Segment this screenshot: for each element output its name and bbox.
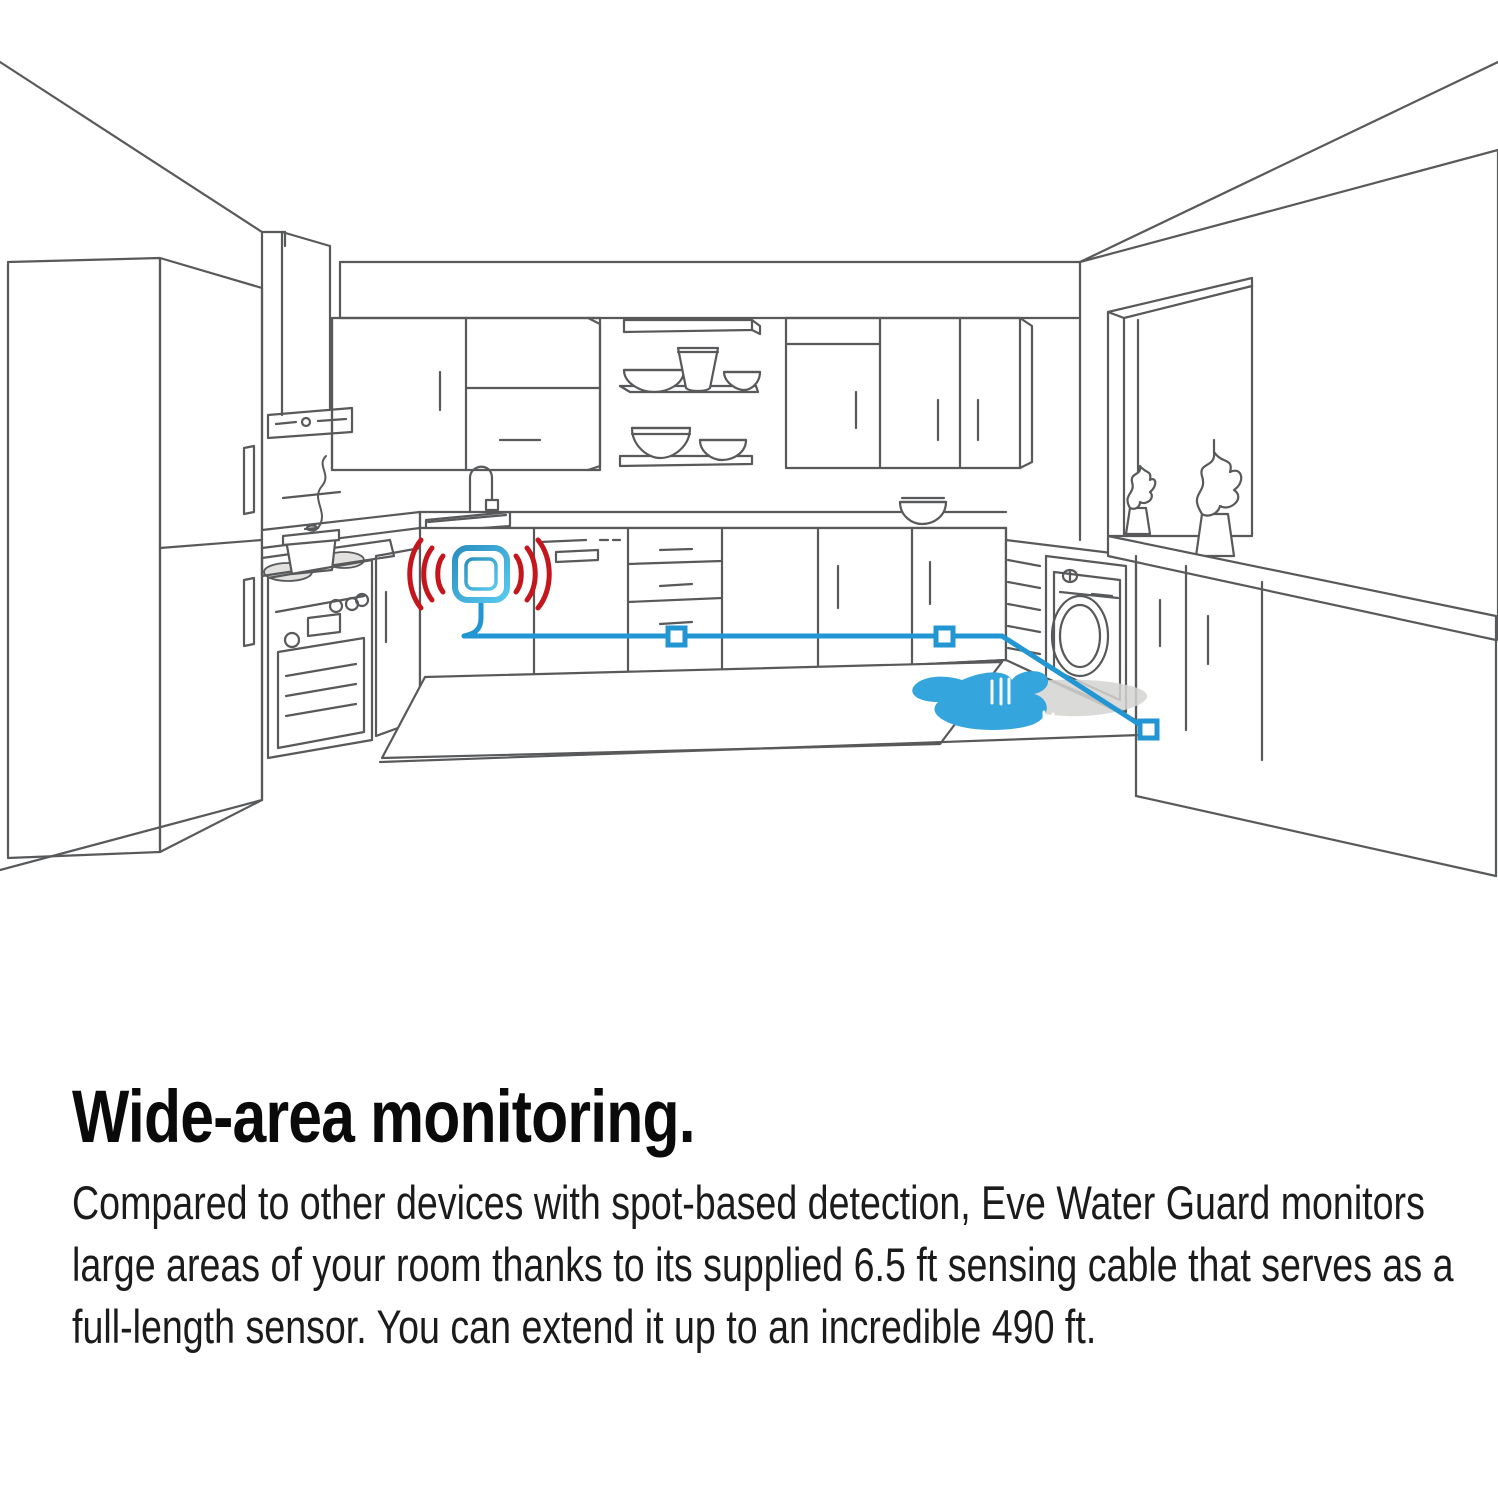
- refrigerator: [8, 258, 262, 858]
- sink-with-faucet: [426, 467, 510, 532]
- page-root: Wide-area monitoring. Compared to other …: [0, 0, 1498, 1498]
- body-paragraph: Compared to other devices with spot-base…: [72, 1172, 1464, 1358]
- eve-water-guard-sensor[interactable]: [455, 548, 507, 600]
- caption-block: Wide-area monitoring. Compared to other …: [72, 1078, 1472, 1358]
- ceiling-lines: [0, 62, 1498, 262]
- steam-icon: [318, 456, 326, 528]
- shelf-dishes: [624, 348, 760, 460]
- kitchen-illustration: [0, 0, 1498, 1020]
- right-counter-run: [1108, 536, 1496, 876]
- counter-bowl: [900, 498, 946, 524]
- back-wall: [340, 262, 1080, 540]
- left-wall: [0, 232, 285, 870]
- kitchen-scene-svg: [0, 0, 1498, 1020]
- oven: [268, 560, 372, 758]
- wall-cabinet-left: [332, 318, 600, 470]
- wall-cabinet-right: [786, 318, 1032, 468]
- page-title: Wide-area monitoring.: [72, 1078, 1220, 1156]
